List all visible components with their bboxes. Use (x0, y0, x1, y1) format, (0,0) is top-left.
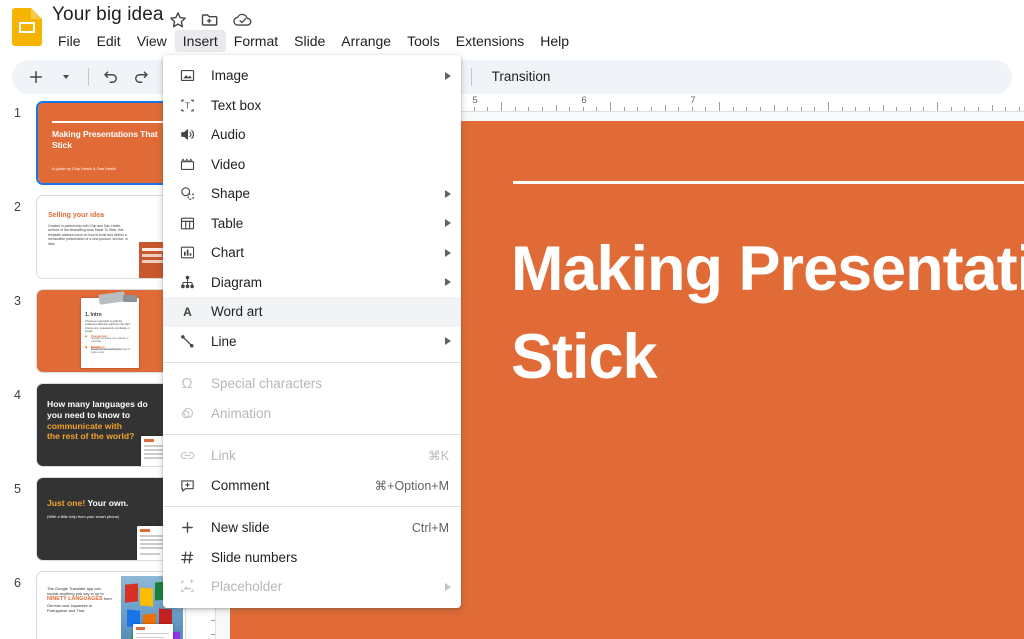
link-icon (177, 446, 197, 466)
toolbar-divider (88, 68, 89, 86)
ruler-tick (883, 105, 884, 111)
star-icon[interactable] (168, 10, 188, 30)
thumb-4-line1: How many languages do (47, 399, 148, 409)
slide-number-1: 1 (14, 106, 21, 120)
thumb-1-rule (52, 121, 180, 123)
new-slide-button[interactable] (22, 63, 50, 91)
text-box-icon: T (177, 95, 197, 115)
filmstrip-slide-5[interactable]: 5 Just one! Your own. (With a little hel… (0, 472, 186, 566)
plus-icon (177, 518, 197, 538)
svg-text:T: T (185, 101, 190, 110)
menu-item-text-box[interactable]: T Text box (163, 91, 461, 121)
slide-filmstrip[interactable]: 1 Making Presentations That Stick A guid… (0, 96, 186, 639)
ruler-tick (515, 107, 516, 111)
menu-item-link-accel: ⌘K (428, 448, 451, 463)
ruler-tick (937, 102, 938, 111)
ruler-tick (923, 107, 924, 111)
thumb-3-card: 1. Intro Choose an approach to grab the … (81, 298, 139, 368)
ruler-tick (760, 107, 761, 111)
thumb-1-title: Making Presentations That Stick (52, 129, 162, 150)
ruler-tick (501, 102, 502, 111)
menu-separator-2 (163, 434, 461, 435)
menu-item-animation[interactable]: Animation (163, 399, 461, 429)
omega-icon: Ω (177, 374, 197, 394)
chevron-right-icon (445, 278, 451, 286)
menu-separator-3 (163, 506, 461, 507)
ruler-tick (774, 105, 775, 111)
menu-item-placeholder-label: Placeholder (211, 579, 445, 594)
thumb-3-bullet-0-text: Highlight something new, unusual, or sur… (91, 338, 135, 344)
thumb-5-subtitle: (With a little help from your smart phon… (47, 514, 167, 519)
word-art-icon: A (177, 302, 197, 322)
svg-text:A: A (183, 305, 192, 319)
ruler-tick (951, 107, 952, 111)
menu-file[interactable]: File (50, 30, 89, 52)
menu-item-audio[interactable]: Audio (163, 120, 461, 150)
image-icon (177, 66, 197, 86)
menu-item-new-slide-label: New slide (211, 520, 412, 535)
thumb-6-body-a: The Google Translate app can repeat anyt… (47, 586, 104, 596)
filmstrip-slide-6[interactable]: 6 The Google Translate app can repeat an… (0, 566, 186, 639)
comment-icon (177, 475, 197, 495)
ruler-tick (705, 107, 706, 111)
menu-view[interactable]: View (129, 30, 175, 52)
menu-item-animation-label: Animation (211, 406, 451, 421)
ruler-tick (678, 107, 679, 111)
title-icon-group (168, 10, 252, 30)
menu-item-shape-label: Shape (211, 186, 445, 201)
thumb-3-heading: 1. Intro (85, 312, 102, 318)
menu-item-comment-label: Comment (211, 478, 375, 493)
menu-item-slide-numbers-label: Slide numbers (211, 550, 451, 565)
thumb-4-line3: communicate with (47, 421, 122, 431)
menu-item-table-label: Table (211, 216, 445, 231)
undo-button[interactable] (97, 63, 125, 91)
move-to-folder-icon[interactable] (200, 10, 220, 30)
menu-item-line-label: Line (211, 334, 445, 349)
ruler-tick (487, 107, 488, 111)
menu-item-special-characters[interactable]: Ω Special characters (163, 369, 461, 399)
menu-insert[interactable]: Insert (175, 30, 226, 52)
menu-item-table[interactable]: Table (163, 209, 461, 239)
table-icon (177, 213, 197, 233)
ruler-tick (746, 107, 747, 111)
menu-item-new-slide-accel: Ctrl+M (412, 521, 451, 535)
ruler-tick (978, 107, 979, 111)
cloud-saved-icon[interactable] (232, 10, 252, 30)
placeholder-icon (177, 577, 197, 597)
ruler-tick (733, 107, 734, 111)
ruler-label: 7 (690, 96, 695, 106)
ruler-tick (637, 107, 638, 111)
google-slides-logo[interactable] (12, 8, 42, 46)
google-slides-window: Your big idea File E (0, 0, 1024, 639)
chevron-right-icon (445, 72, 451, 80)
ruler-tick-v (211, 634, 215, 635)
menu-bar: File Edit View Insert Format Slide Arran… (50, 30, 577, 52)
slide-number-6: 6 (14, 576, 21, 590)
menu-item-line[interactable]: Line (163, 327, 461, 357)
thumb-6-note-card (133, 624, 173, 639)
thumb-5-rest: Your own. (87, 498, 128, 508)
chart-icon (177, 243, 197, 263)
ruler-label: 6 (581, 96, 586, 106)
menu-item-diagram[interactable]: Diagram (163, 268, 461, 298)
ruler-tick (828, 102, 829, 111)
ruler-tick (910, 107, 911, 111)
thumb-4-line4: the rest of the world? (47, 431, 134, 441)
menu-extensions[interactable]: Extensions (448, 30, 532, 52)
filmstrip-slide-2[interactable]: 2 Selling your idea Created in partnersh… (0, 190, 186, 284)
ruler-tick (801, 107, 802, 111)
menu-separator-1 (163, 362, 461, 363)
menu-edit[interactable]: Edit (89, 30, 129, 52)
ruler-tick (569, 107, 570, 111)
ruler-label: 5 (472, 96, 477, 106)
audio-icon (177, 125, 197, 145)
menu-item-word-art-label: Word art (211, 304, 451, 319)
slide-number-2: 2 (14, 200, 21, 214)
menu-item-image[interactable]: Image (163, 61, 461, 91)
menu-format[interactable]: Format (226, 30, 286, 52)
thumb-3-clip (123, 295, 137, 302)
chevron-right-icon (445, 219, 451, 227)
menu-item-audio-label: Audio (211, 127, 451, 142)
slide-title-text[interactable]: Making Presentations That Stick (511, 225, 1024, 401)
thumb-2-body: Created in partnership with Chip and Dan… (48, 224, 130, 246)
line-icon (177, 331, 197, 351)
ruler-tick (610, 102, 611, 111)
thumb-6-body-highlight: NINETY LANGUAGES (47, 596, 103, 602)
menu-item-comment-accel: ⌘+Option+M (375, 478, 451, 493)
menu-item-link-label: Link (211, 448, 428, 463)
toolbar-divider-5 (471, 68, 472, 86)
ruler-tick (665, 105, 666, 111)
filmstrip-slide-3[interactable]: 3 1. Intro Choose an approach to grab th… (0, 284, 186, 378)
menu-item-video-label: Video (211, 157, 451, 172)
ruler-tick (787, 107, 788, 111)
video-icon (177, 154, 197, 174)
slide-number-4: 4 (14, 388, 21, 402)
ruler-tick (528, 107, 529, 111)
menu-item-comment[interactable]: Comment ⌘+Option+M (163, 471, 461, 501)
filmstrip-slide-4[interactable]: 4 How many languages do you need to know… (0, 378, 186, 472)
chevron-right-icon (445, 249, 451, 257)
menu-help[interactable]: Help (532, 30, 577, 52)
menu-item-special-characters-label: Special characters (211, 376, 451, 391)
ruler-tick (583, 107, 584, 111)
ruler-tick (1019, 107, 1020, 111)
ruler-tick (624, 107, 625, 111)
thumb-1-subtitle: A guide by Chip Heath & Dan Heath (52, 166, 172, 171)
ruler-tick (651, 107, 652, 111)
ruler-tick (474, 107, 475, 111)
transition-button[interactable]: Transition (480, 63, 563, 91)
menu-slide[interactable]: Slide (286, 30, 333, 52)
menu-item-image-label: Image (211, 68, 445, 83)
document-title[interactable]: Your big idea (52, 4, 164, 26)
thumb-5-highlight: Just one! (47, 498, 85, 508)
new-slide-dropdown[interactable] (52, 63, 80, 91)
ruler-tick (719, 102, 720, 111)
menu-item-diagram-label: Diagram (211, 275, 445, 290)
slide-divider-rule (513, 181, 1024, 184)
ruler-tick (855, 107, 856, 111)
thumb-3-bullet-2-text: Provide a simple, ordinary message to ma… (91, 349, 135, 355)
ruler-tick (992, 105, 993, 111)
ruler-tick-v (211, 620, 215, 621)
thumb-2-heading: Selling your idea (48, 212, 104, 219)
menu-item-shape[interactable]: Shape (163, 179, 461, 209)
animation-icon (177, 403, 197, 423)
ruler-tick (556, 105, 557, 111)
ruler-tick (692, 107, 693, 111)
chevron-right-icon (445, 583, 451, 591)
insert-dropdown-menu[interactable]: Image T Text box Audio (163, 55, 461, 608)
thumb-3-body: Choose an approach to grab the audience'… (85, 320, 135, 334)
main-toolbar: Background Layout Theme Transition (12, 60, 1012, 94)
menu-item-chart-label: Chart (211, 245, 445, 260)
slide-number-5: 5 (14, 482, 21, 496)
title-bar: Your big idea File E (0, 0, 1024, 56)
ruler-tick (869, 107, 870, 111)
thumb-4-line2: you need to know to (47, 410, 130, 420)
diagram-icon (177, 272, 197, 292)
chevron-right-icon (445, 337, 451, 345)
chevron-right-icon (445, 190, 451, 198)
ruler-tick (964, 107, 965, 111)
ruler-tick (542, 107, 543, 111)
ruler-tick (896, 107, 897, 111)
menu-item-chart[interactable]: Chart (163, 238, 461, 268)
menu-item-placeholder[interactable]: Placeholder (163, 572, 461, 602)
filmstrip-slide-1[interactable]: 1 Making Presentations That Stick A guid… (0, 96, 186, 190)
ruler-tick (596, 107, 597, 111)
menu-item-text-box-label: Text box (211, 98, 451, 113)
menu-item-word-art[interactable]: A Word art (163, 297, 461, 327)
hash-icon (177, 547, 197, 567)
shape-icon (177, 184, 197, 204)
menu-item-video[interactable]: Video (163, 150, 461, 180)
thumb-3-bullets: ◆ Unexpected Highlight something new, un… (85, 334, 135, 345)
menu-arrange[interactable]: Arrange (333, 30, 399, 52)
redo-button[interactable] (127, 63, 155, 91)
menu-tools[interactable]: Tools (399, 30, 448, 52)
menu-item-new-slide[interactable]: New slide Ctrl+M (163, 513, 461, 543)
caret-down-icon (63, 75, 69, 79)
menu-item-link[interactable]: Link ⌘K (163, 441, 461, 471)
ruler-tick (1005, 107, 1006, 111)
slide-number-3: 3 (14, 294, 21, 308)
menu-item-slide-numbers[interactable]: Slide numbers (163, 543, 461, 573)
ruler-tick (842, 107, 843, 111)
ruler-tick (814, 107, 815, 111)
